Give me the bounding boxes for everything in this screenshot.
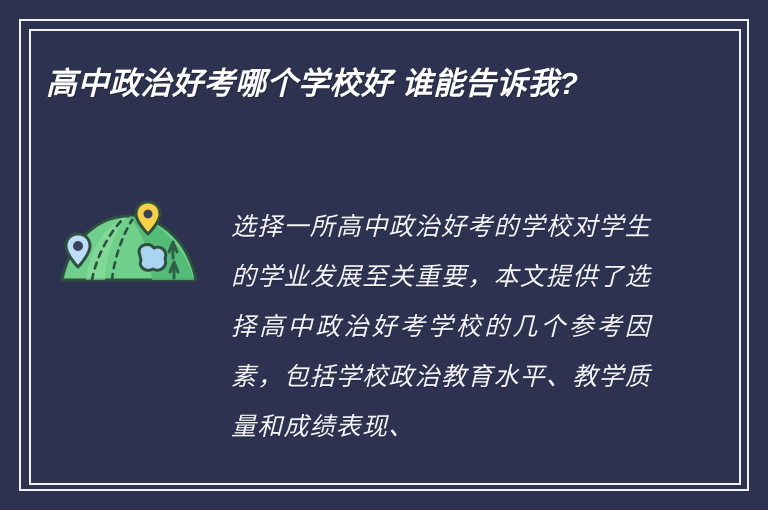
article-body: 选择一所高中政治好考的学校对学生的学业发展至关重要，本文提供了选择高中政治好考学… <box>231 202 651 452</box>
article-content: 选择一所高中政治好考的学校对学生的学业发展至关重要，本文提供了选择高中政治好考学… <box>46 192 706 472</box>
page-title: 高中政治好考哪个学校好 谁能告诉我? <box>46 58 666 110</box>
lake-shape <box>139 245 166 271</box>
map-hill-illustration <box>56 200 206 290</box>
article-card: 高中政治好考哪个学校好 谁能告诉我? <box>0 0 768 510</box>
